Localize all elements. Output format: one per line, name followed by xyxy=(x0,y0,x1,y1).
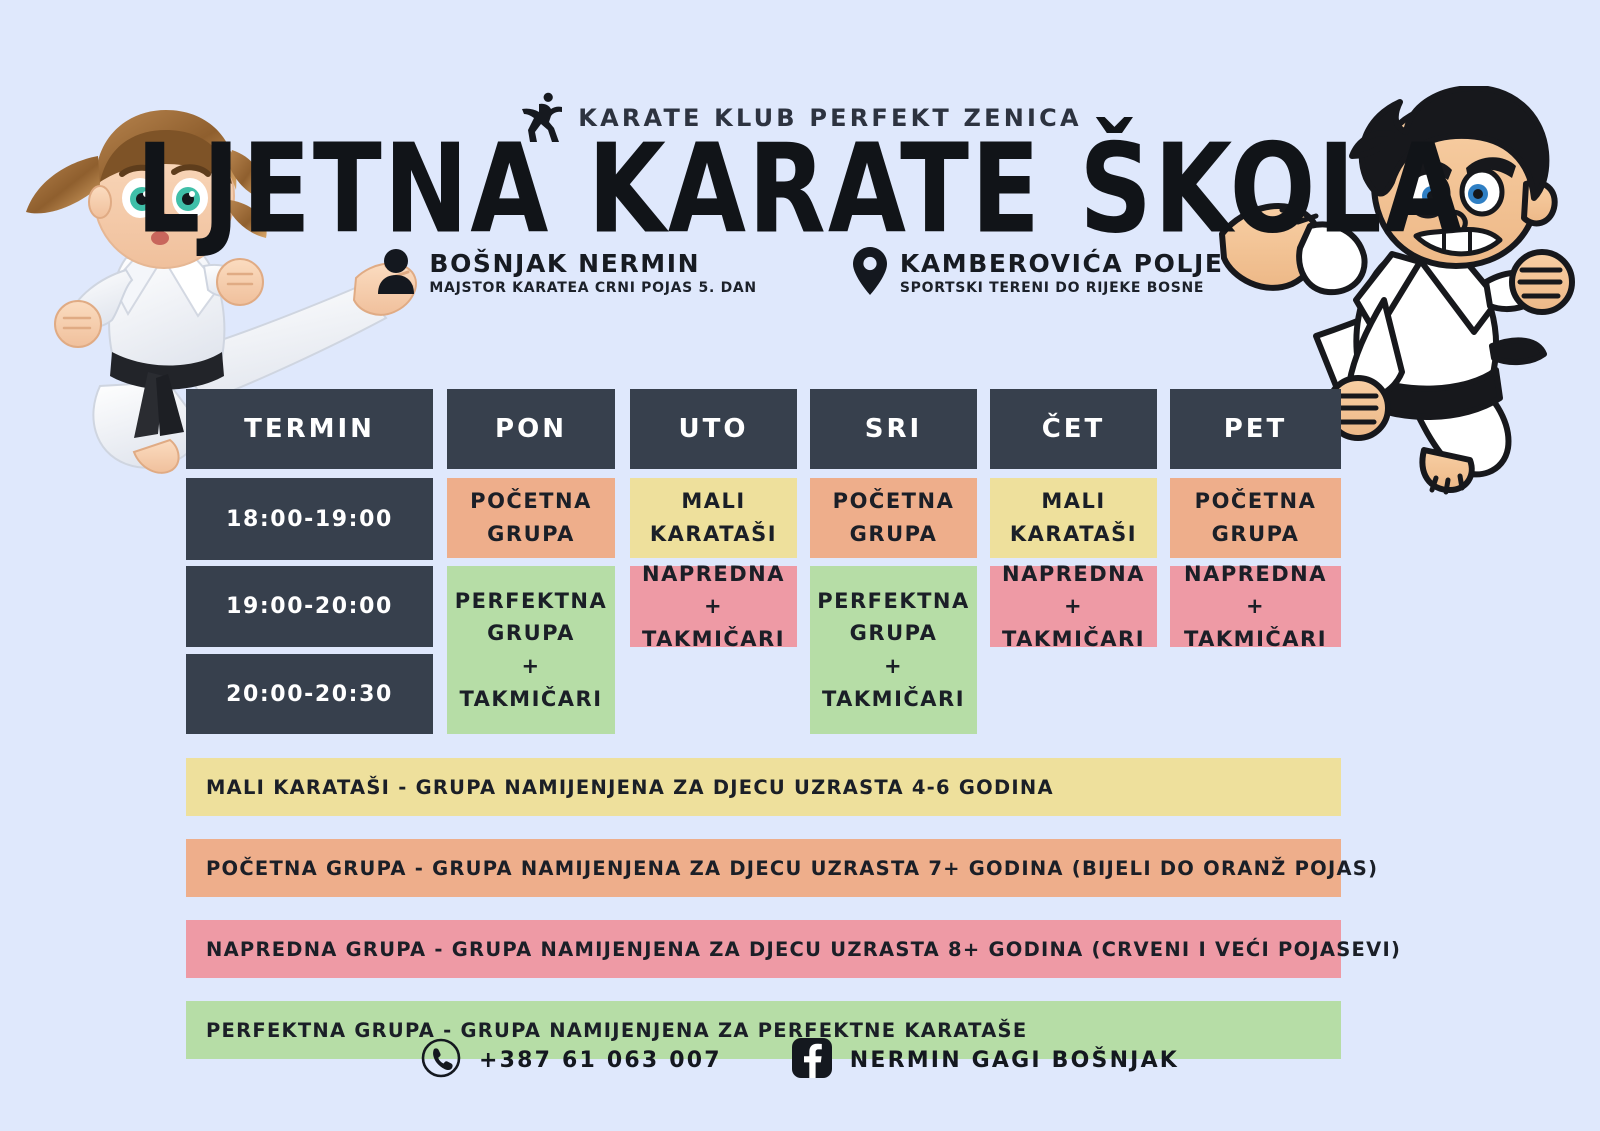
location-block: KAMBEROVIĆA POLJE SPORTSKI TERENI DO RIJ… xyxy=(853,247,1224,300)
column-header-pon: PON xyxy=(447,389,615,469)
legend-row-napredna-grupa: NAPREDNA GRUPA - GRUPA NAMIJENJENA ZA DJ… xyxy=(186,920,1341,978)
instructor-name: BOŠNJAK NERMIN xyxy=(429,251,756,277)
cell-pon-1: POČETNA GRUPA xyxy=(447,478,615,558)
time-slot-2: 19:00-20:00 xyxy=(186,566,433,647)
legend-text: NAPREDNA GRUPA - GRUPA NAMIJENJENA ZA DJ… xyxy=(206,938,1401,961)
page-title: LJETNA KARATE ŠKOLA xyxy=(0,128,1600,251)
instructor-block: BOŠNJAK NERMIN MAJSTOR KARATEA CRNI POJA… xyxy=(376,247,756,300)
column-header-termin: TERMIN xyxy=(186,389,433,469)
column-header-uto: UTO xyxy=(630,389,797,469)
time-slot-1: 18:00-19:00 xyxy=(186,478,433,560)
legend: MALI KARATAŠI - GRUPA NAMIJENJENA ZA DJE… xyxy=(186,758,1341,1082)
column-header-cet: ČET xyxy=(990,389,1157,469)
legend-row-pocetna-grupa: POČETNA GRUPA - GRUPA NAMIJENJENA ZA DJE… xyxy=(186,839,1341,897)
cell-uto-2: NAPREDNA + TAKMIČARI xyxy=(630,566,797,647)
location-name: KAMBEROVIĆA POLJE xyxy=(900,251,1224,277)
legend-row-mali-kratasi: MALI KARATAŠI - GRUPA NAMIJENJENA ZA DJE… xyxy=(186,758,1341,816)
meta-row: BOŠNJAK NERMIN MAJSTOR KARATEA CRNI POJA… xyxy=(0,247,1600,300)
phone-contact[interactable]: +387 61 063 007 xyxy=(421,1038,722,1083)
cell-uto-1: MALI KARATAŠI xyxy=(630,478,797,558)
phone-number: +387 61 063 007 xyxy=(479,1048,722,1073)
schedule-grid: TERMIN PON UTO SRI ČET PET 18:00-19:00 1… xyxy=(186,389,1341,734)
poster-root: KARATE KLUB PERFEKT ZENICA LJETNA KARATE… xyxy=(0,0,1600,1131)
cell-cet-1: MALI KARATAŠI xyxy=(990,478,1157,558)
column-header-pet: PET xyxy=(1170,389,1341,469)
facebook-name: NERMIN GAGI BOŠNJAK xyxy=(850,1048,1179,1073)
instructor-credential: MAJSTOR KARATEA CRNI POJAS 5. DAN xyxy=(429,281,756,296)
legend-text: POČETNA GRUPA - GRUPA NAMIJENJENA ZA DJE… xyxy=(206,857,1378,880)
facebook-contact[interactable]: NERMIN GAGI BOŠNJAK xyxy=(792,1038,1179,1083)
time-slot-3: 20:00-20:30 xyxy=(186,654,433,734)
map-pin-icon xyxy=(853,247,887,300)
cell-pet-2: NAPREDNA + TAKMIČARI xyxy=(1170,566,1341,647)
location-detail: SPORTSKI TERENI DO RIJEKE BOSNE xyxy=(900,281,1224,296)
facebook-icon xyxy=(792,1038,832,1083)
phone-icon xyxy=(421,1038,461,1083)
footer-contacts: +387 61 063 007 NERMIN GAGI BOŠNJAK xyxy=(0,1038,1600,1083)
cell-sri-1: POČETNA GRUPA xyxy=(810,478,977,558)
person-icon xyxy=(376,248,416,299)
column-header-sri: SRI xyxy=(810,389,977,469)
cell-pet-1: POČETNA GRUPA xyxy=(1170,478,1341,558)
cell-pon-2: PERFEKTNA GRUPA + TAKMIČARI xyxy=(447,566,615,734)
cell-cet-2: NAPREDNA + TAKMIČARI xyxy=(990,566,1157,647)
cell-sri-2: PERFEKTNA GRUPA + TAKMIČARI xyxy=(810,566,977,734)
legend-text: MALI KARATAŠI - GRUPA NAMIJENJENA ZA DJE… xyxy=(206,776,1054,799)
